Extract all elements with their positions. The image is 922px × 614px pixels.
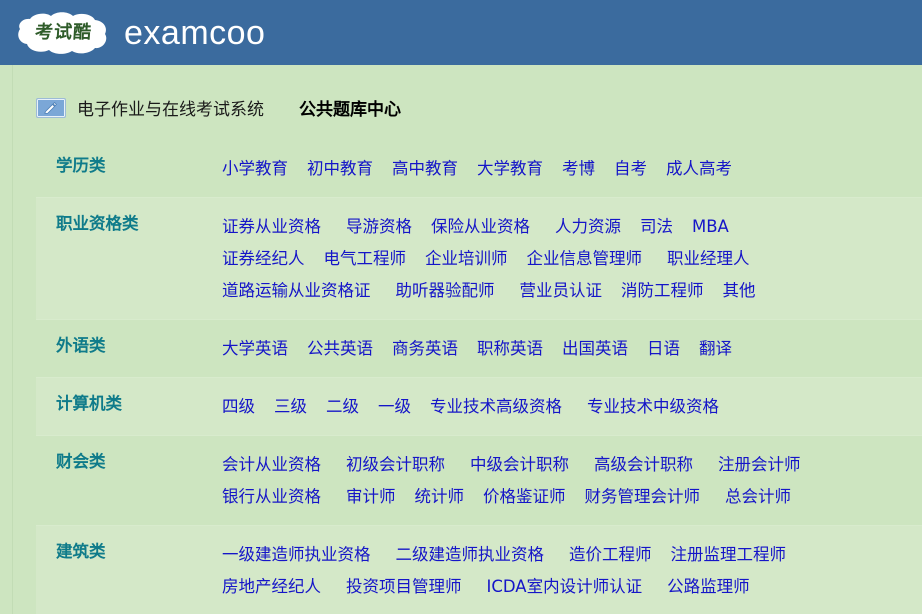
category-link[interactable]: 统计师 bbox=[415, 487, 465, 506]
category-link[interactable]: 营业员认证 bbox=[520, 281, 603, 300]
category-link[interactable]: 财务管理会计师 bbox=[585, 487, 701, 506]
category-link[interactable]: 总会计师 bbox=[725, 487, 791, 506]
category-link[interactable]: 专业技术中级资格 bbox=[587, 397, 719, 416]
category-link[interactable]: 职业经理人 bbox=[667, 249, 750, 268]
category-link[interactable]: 证券经纪人 bbox=[222, 249, 305, 268]
category-links: 一级建造师执业资格二级建造师执业资格造价工程师注册监理工程师房地产经纪人投资项目… bbox=[222, 539, 922, 603]
category-link[interactable]: 证券从业资格 bbox=[222, 217, 321, 236]
category-link[interactable]: 注册会计师 bbox=[718, 455, 801, 474]
site-logo[interactable]: 考试酷 bbox=[16, 11, 110, 55]
category-link[interactable]: 其他 bbox=[723, 281, 756, 300]
category-link[interactable]: 翻译 bbox=[699, 339, 732, 358]
category-link[interactable]: 一级 bbox=[378, 397, 411, 416]
category-link[interactable]: 价格鉴证师 bbox=[483, 487, 566, 506]
category-link[interactable]: 道路运输从业资格证 bbox=[222, 281, 371, 300]
category-link[interactable]: 企业信息管理师 bbox=[527, 249, 643, 268]
category-link[interactable]: 银行从业资格 bbox=[222, 487, 321, 506]
category-link[interactable]: 司法 bbox=[640, 217, 673, 236]
category-link[interactable]: 注册监理工程师 bbox=[671, 545, 787, 564]
category-link[interactable]: 出国英语 bbox=[562, 339, 628, 358]
category-link[interactable]: 人力资源 bbox=[555, 217, 621, 236]
category-links: 四级三级二级一级专业技术高级资格专业技术中级资格 bbox=[222, 391, 922, 423]
category-links: 小学教育初中教育高中教育大学教育考博自考成人高考 bbox=[222, 153, 922, 185]
content-area: 电子作业与在线考试系统 公共题库中心 学历类小学教育初中教育高中教育大学教育考博… bbox=[0, 65, 922, 614]
category-list: 学历类小学教育初中教育高中教育大学教育考博自考成人高考职业资格类证券从业资格导游… bbox=[36, 140, 922, 614]
category-link[interactable]: 导游资格 bbox=[346, 217, 412, 236]
category-link[interactable]: 高中教育 bbox=[392, 159, 458, 178]
category-link-line: 证券从业资格导游资格保险从业资格人力资源司法MBA bbox=[222, 211, 922, 243]
category-link[interactable]: 会计从业资格 bbox=[222, 455, 321, 474]
category-link[interactable]: 大学英语 bbox=[222, 339, 288, 358]
brand-name: examcoo bbox=[124, 16, 265, 50]
category-link[interactable]: MBA bbox=[692, 217, 729, 236]
category-link[interactable]: 二级建造师执业资格 bbox=[396, 545, 545, 564]
category-link[interactable]: 初级会计职称 bbox=[346, 455, 445, 474]
category-link[interactable]: 保险从业资格 bbox=[431, 217, 530, 236]
category-link[interactable]: 中级会计职称 bbox=[470, 455, 569, 474]
category-link[interactable]: ICDA室内设计师认证 bbox=[487, 577, 643, 596]
logo-label: 考试酷 bbox=[34, 24, 92, 42]
category-link[interactable]: 造价工程师 bbox=[569, 545, 652, 564]
category-link-line: 大学英语公共英语商务英语职称英语出国英语日语翻译 bbox=[222, 333, 922, 365]
category-links: 证券从业资格导游资格保险从业资格人力资源司法MBA证券经纪人电气工程师企业培训师… bbox=[222, 211, 922, 307]
category-row: 学历类小学教育初中教育高中教育大学教育考博自考成人高考 bbox=[36, 140, 922, 197]
category-link[interactable]: 商务英语 bbox=[392, 339, 458, 358]
category-link-line: 证券经纪人电气工程师企业培训师企业信息管理师职业经理人 bbox=[222, 243, 922, 275]
category-row: 财会类会计从业资格初级会计职称中级会计职称高级会计职称注册会计师银行从业资格审计… bbox=[36, 435, 922, 525]
category-link-line: 一级建造师执业资格二级建造师执业资格造价工程师注册监理工程师 bbox=[222, 539, 922, 571]
category-link[interactable]: 房地产经纪人 bbox=[222, 577, 321, 596]
category-link[interactable]: 自考 bbox=[614, 159, 647, 178]
system-name: 电子作业与在线考试系统 bbox=[77, 95, 264, 120]
category-row: 职业资格类证券从业资格导游资格保险从业资格人力资源司法MBA证券经纪人电气工程师… bbox=[36, 197, 922, 319]
category-link[interactable]: 初中教育 bbox=[307, 159, 373, 178]
category-link[interactable]: 四级 bbox=[222, 397, 255, 416]
category-link[interactable]: 电气工程师 bbox=[324, 249, 407, 268]
category-link[interactable]: 公路监理师 bbox=[667, 577, 750, 596]
category-link-line: 小学教育初中教育高中教育大学教育考博自考成人高考 bbox=[222, 153, 922, 185]
category-link[interactable]: 高级会计职称 bbox=[594, 455, 693, 474]
category-link[interactable]: 企业培训师 bbox=[425, 249, 508, 268]
category-label: 计算机类 bbox=[36, 391, 222, 417]
category-link-line: 会计从业资格初级会计职称中级会计职称高级会计职称注册会计师 bbox=[222, 449, 922, 481]
category-link[interactable]: 投资项目管理师 bbox=[346, 577, 462, 596]
category-link[interactable]: 专业技术高级资格 bbox=[430, 397, 562, 416]
category-link-line: 道路运输从业资格证助听器验配师营业员认证消防工程师其他 bbox=[222, 275, 922, 307]
category-link[interactable]: 二级 bbox=[326, 397, 359, 416]
category-link-line: 房地产经纪人投资项目管理师ICDA室内设计师认证公路监理师 bbox=[222, 571, 922, 603]
category-row: 建筑类一级建造师执业资格二级建造师执业资格造价工程师注册监理工程师房地产经纪人投… bbox=[36, 525, 922, 614]
category-link[interactable]: 成人高考 bbox=[666, 159, 732, 178]
category-links: 大学英语公共英语商务英语职称英语出国英语日语翻译 bbox=[222, 333, 922, 365]
category-link[interactable]: 职称英语 bbox=[477, 339, 543, 358]
category-link-line: 四级三级二级一级专业技术高级资格专业技术中级资格 bbox=[222, 391, 922, 423]
category-link[interactable]: 公共英语 bbox=[307, 339, 373, 358]
page-subtitle-bar: 电子作业与在线考试系统 公共题库中心 bbox=[36, 65, 922, 132]
edit-note-icon bbox=[36, 98, 66, 118]
category-link[interactable]: 一级建造师执业资格 bbox=[222, 545, 371, 564]
category-row: 外语类大学英语公共英语商务英语职称英语出国英语日语翻译 bbox=[36, 319, 922, 377]
category-link[interactable]: 大学教育 bbox=[477, 159, 543, 178]
category-row: 计算机类四级三级二级一级专业技术高级资格专业技术中级资格 bbox=[36, 377, 922, 435]
category-link-line: 银行从业资格审计师统计师价格鉴证师财务管理会计师总会计师 bbox=[222, 481, 922, 513]
category-link[interactable]: 消防工程师 bbox=[621, 281, 704, 300]
category-link[interactable]: 日语 bbox=[647, 339, 680, 358]
category-label: 职业资格类 bbox=[36, 211, 222, 237]
category-label: 财会类 bbox=[36, 449, 222, 475]
category-link[interactable]: 审计师 bbox=[346, 487, 396, 506]
site-header: 考试酷 examcoo bbox=[0, 0, 922, 65]
category-link[interactable]: 考博 bbox=[562, 159, 595, 178]
category-label: 建筑类 bbox=[36, 539, 222, 565]
page-title: 公共题库中心 bbox=[299, 95, 401, 120]
category-link[interactable]: 三级 bbox=[274, 397, 307, 416]
category-label: 学历类 bbox=[36, 153, 222, 179]
category-links: 会计从业资格初级会计职称中级会计职称高级会计职称注册会计师银行从业资格审计师统计… bbox=[222, 449, 922, 513]
category-link[interactable]: 小学教育 bbox=[222, 159, 288, 178]
category-label: 外语类 bbox=[36, 333, 222, 359]
category-link[interactable]: 助听器验配师 bbox=[396, 281, 495, 300]
